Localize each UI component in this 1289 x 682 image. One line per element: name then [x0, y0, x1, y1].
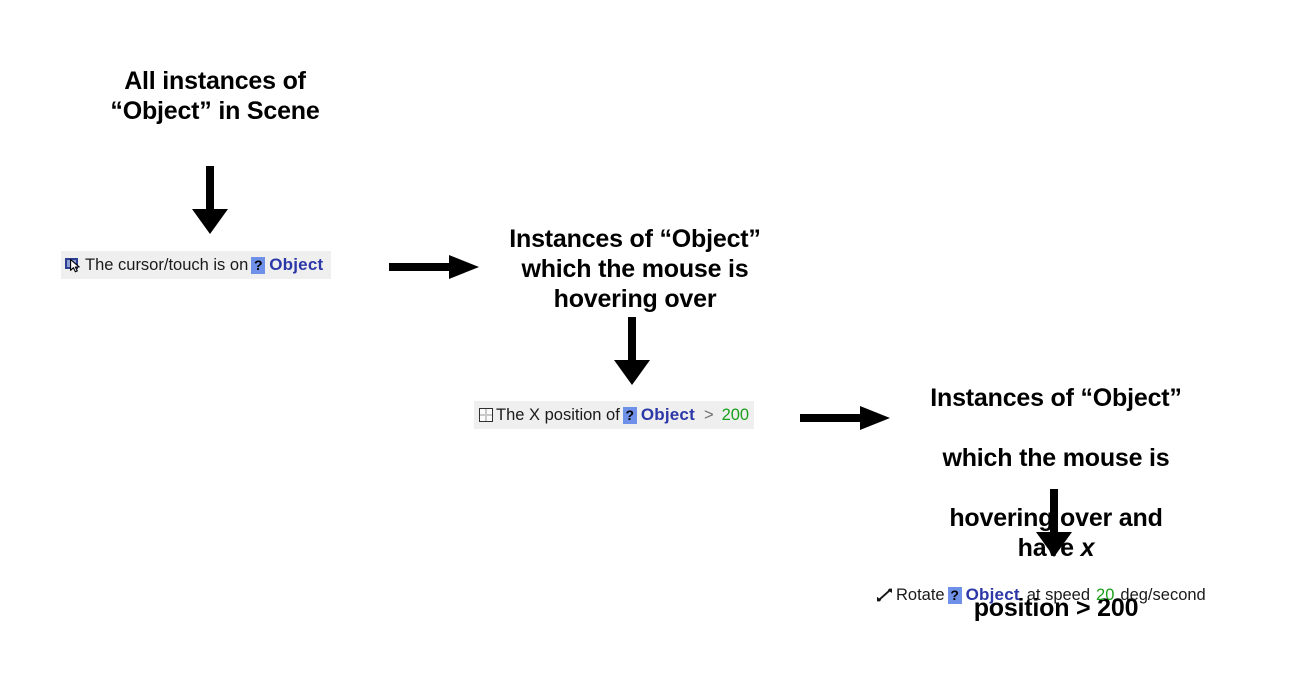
heading-line-2: which the mouse is [942, 444, 1169, 472]
rotate-speed-value[interactable]: 20 [1096, 586, 1114, 605]
block-rotate-object-at-speed[interactable]: Rotate ? Object at speed 20 deg/second [872, 581, 1211, 609]
object-badge-label: Object [641, 405, 695, 425]
cursor-on-object-icon [65, 257, 82, 273]
heading-instances-hovered: Instances of “Object” which the mouse is… [508, 224, 762, 314]
block-xpos-text: The X position of [496, 406, 620, 425]
grid-position-icon [478, 407, 494, 423]
arrow-right-cursor-block-to-hover-heading [389, 251, 481, 283]
question-mark-icon: ? [948, 587, 962, 604]
threshold-value[interactable]: 200 [722, 406, 750, 425]
block-rotate-at-speed-label: at speed [1027, 586, 1090, 605]
question-mark-icon: ? [623, 407, 637, 424]
arrow-down-scene-to-cursor-block [186, 166, 234, 236]
object-badge[interactable]: ? Object [251, 255, 323, 275]
object-badge[interactable]: ? Object [948, 585, 1020, 605]
arrow-down-hover-x-heading-to-rotate-block [1030, 489, 1078, 559]
block-cursor-text: The cursor/touch is on [85, 256, 248, 275]
object-badge-label: Object [966, 585, 1020, 605]
block-x-position-of-object[interactable]: The X position of ? Object > 200 [474, 401, 754, 429]
question-mark-icon: ? [251, 257, 265, 274]
block-rotate-text: Rotate [896, 586, 945, 605]
object-badge-label: Object [269, 255, 323, 275]
arrow-down-hover-heading-to-xpos-block [608, 317, 656, 387]
heading-italic-x: x [1081, 534, 1095, 562]
diagram-canvas: All instances of “Object” in Scene The c… [0, 0, 1289, 682]
block-cursor-touch-is-on-object[interactable]: The cursor/touch is on ? Object [61, 251, 331, 279]
rotate-speed-units: deg/second [1120, 586, 1205, 605]
rotate-diagonal-arrow-icon [876, 587, 893, 603]
heading-line-1: Instances of “Object” [930, 384, 1181, 412]
arrow-right-xpos-block-to-hover-x-heading [800, 402, 892, 434]
object-badge[interactable]: ? Object [623, 405, 695, 425]
comparison-operator[interactable]: > [704, 406, 714, 425]
heading-all-instances-in-scene: All instances of “Object” in Scene [60, 66, 370, 126]
